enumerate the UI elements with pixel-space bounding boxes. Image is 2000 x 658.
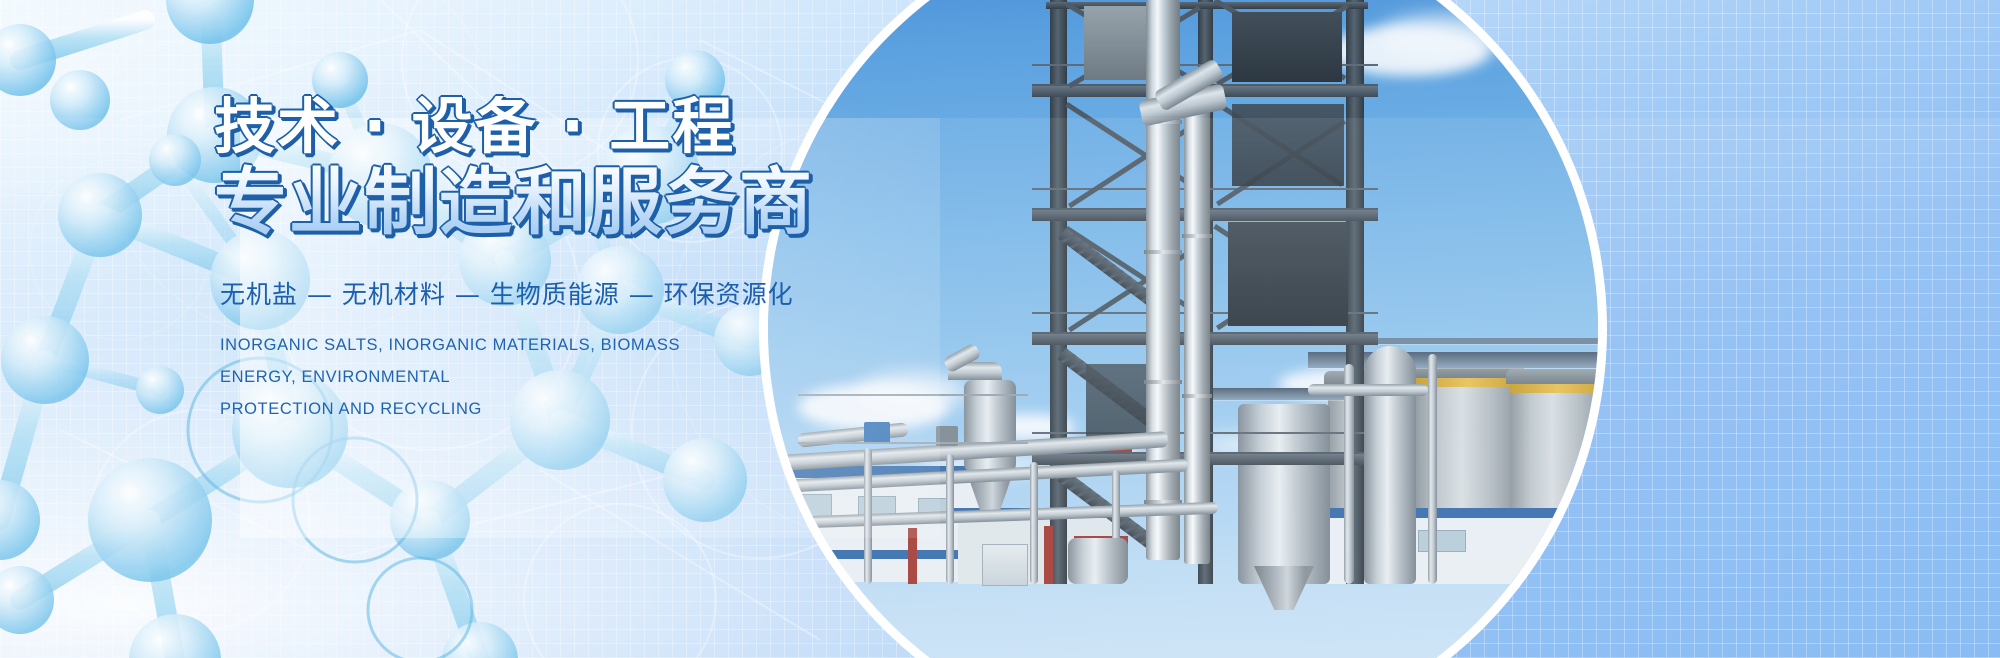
page-title: 技术 · 设备 · 工程 专业制造和服务商 bbox=[214, 96, 1114, 241]
process-vessel bbox=[1364, 346, 1416, 584]
subtitle-english-line-2: PROTECTION AND RECYCLING bbox=[220, 393, 760, 425]
headline-line-1: 技术 · 设备 · 工程 bbox=[214, 96, 1114, 158]
banner-text-content: 技术 · 设备 · 工程 专业制造和服务商 无机盐 — 无机材料 — 生物质能源… bbox=[214, 96, 1114, 425]
hero-banner: 技术 · 设备 · 工程 专业制造和服务商 无机盐 — 无机材料 — 生物质能源… bbox=[0, 0, 2000, 658]
headline-line-2: 专业制造和服务商 bbox=[214, 166, 1114, 240]
distillation-column-secondary bbox=[1184, 94, 1210, 564]
subtitle-english-line-1: INORGANIC SALTS, INORGANIC MATERIALS, BI… bbox=[220, 329, 760, 393]
subtitle-chinese: 无机盐 — 无机材料 — 生物质能源 — 环保资源化 bbox=[220, 275, 1114, 311]
subtitle-english: INORGANIC SALTS, INORGANIC MATERIALS, BI… bbox=[220, 329, 760, 426]
